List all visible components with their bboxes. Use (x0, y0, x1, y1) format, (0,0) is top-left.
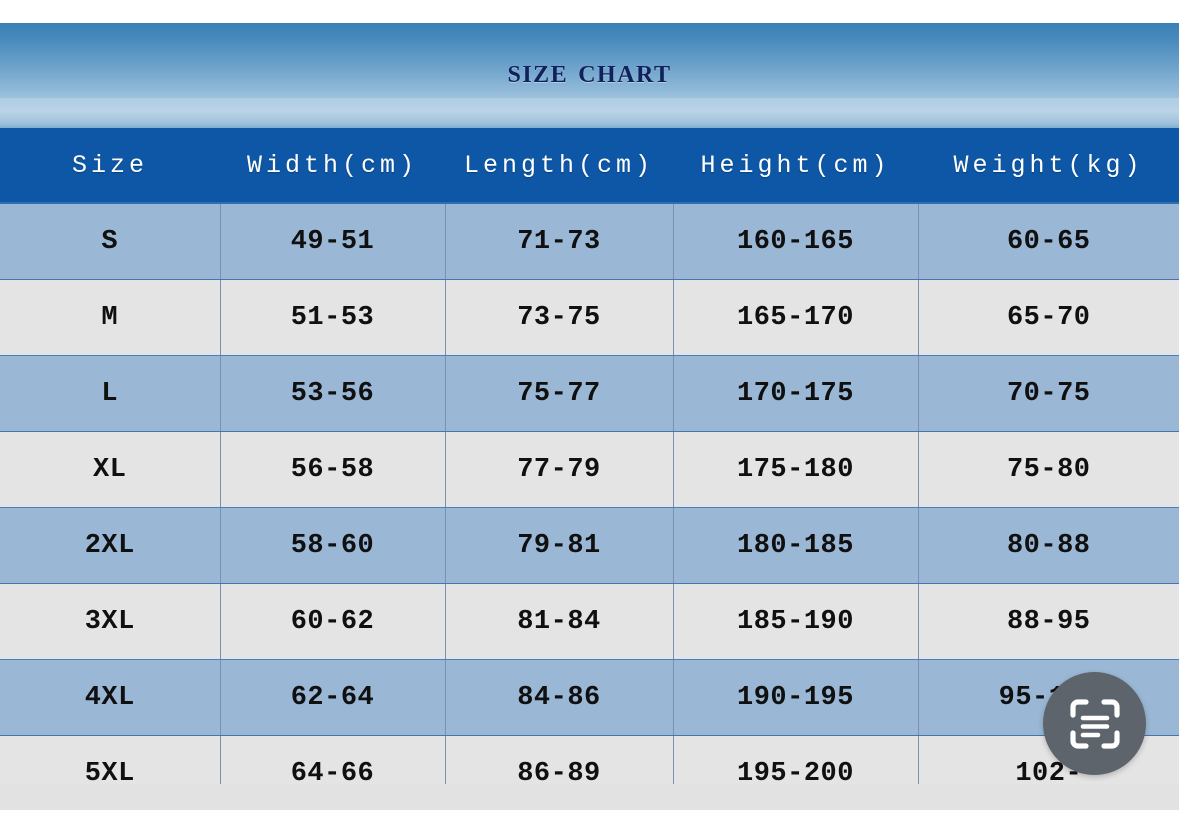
cell-height: 160-165 (673, 203, 918, 280)
cell-width: 62-64 (220, 660, 445, 736)
header-row: Size Width(cm) Length(cm) Height(cm) Wei… (0, 128, 1179, 203)
size-table-container: Size Width(cm) Length(cm) Height(cm) Wei… (0, 128, 1179, 813)
cell-length: 71-73 (445, 203, 673, 280)
size-chart-page: Size Chart Size Width(cm) Length(cm) Hei… (0, 0, 1179, 824)
column-header-size: Size (0, 128, 220, 203)
cell-height: 180-185 (673, 508, 918, 584)
cell-weight: 70-75 (918, 356, 1179, 432)
cell-size: L (0, 356, 220, 432)
cell-length: 75-77 (445, 356, 673, 432)
page-title: Size Chart (0, 53, 1179, 91)
table-row: 4XL 62-64 84-86 190-195 95-102 (0, 660, 1179, 736)
cell-weight: 88-95 (918, 584, 1179, 660)
cell-height: 170-175 (673, 356, 918, 432)
cell-size: XL (0, 432, 220, 508)
cell-length: 81-84 (445, 584, 673, 660)
cell-size: 4XL (0, 660, 220, 736)
cell-length: 73-75 (445, 280, 673, 356)
cell-height: 185-190 (673, 584, 918, 660)
table-body: S 49-51 71-73 160-165 60-65 M 51-53 73-7… (0, 203, 1179, 812)
cell-width: 51-53 (220, 280, 445, 356)
cell-height: 165-170 (673, 280, 918, 356)
table-row: M 51-53 73-75 165-170 65-70 (0, 280, 1179, 356)
cell-width: 56-58 (220, 432, 445, 508)
cell-size: 3XL (0, 584, 220, 660)
table-row: 2XL 58-60 79-81 180-185 80-88 (0, 508, 1179, 584)
cell-height: 175-180 (673, 432, 918, 508)
cell-length: 84-86 (445, 660, 673, 736)
top-white-strip (0, 0, 1179, 23)
cell-width: 60-62 (220, 584, 445, 660)
cell-width: 49-51 (220, 203, 445, 280)
table-row: XL 56-58 77-79 175-180 75-80 (0, 432, 1179, 508)
cell-size: M (0, 280, 220, 356)
scan-text-button[interactable] (1043, 672, 1146, 775)
cell-length: 77-79 (445, 432, 673, 508)
bottom-white-strip (0, 810, 1179, 824)
column-header-width: Width(cm) (220, 128, 445, 203)
cell-weight: 65-70 (918, 280, 1179, 356)
cell-weight: 80-88 (918, 508, 1179, 584)
title-banner: Size Chart (0, 23, 1179, 128)
scan-text-icon (1068, 697, 1122, 751)
column-header-height: Height(cm) (673, 128, 918, 203)
column-header-weight: Weight(kg) (918, 128, 1179, 203)
cell-width: 53-56 (220, 356, 445, 432)
column-header-length: Length(cm) (445, 128, 673, 203)
table-row: L 53-56 75-77 170-175 70-75 (0, 356, 1179, 432)
cell-weight: 75-80 (918, 432, 1179, 508)
size-table: Size Width(cm) Length(cm) Height(cm) Wei… (0, 128, 1179, 813)
table-row: S 49-51 71-73 160-165 60-65 (0, 203, 1179, 280)
cell-size: S (0, 203, 220, 280)
bottom-gray-strip (0, 784, 1179, 810)
table-header: Size Width(cm) Length(cm) Height(cm) Wei… (0, 128, 1179, 203)
cell-weight: 60-65 (918, 203, 1179, 280)
cell-height: 190-195 (673, 660, 918, 736)
cell-size: 2XL (0, 508, 220, 584)
table-row: 3XL 60-62 81-84 185-190 88-95 (0, 584, 1179, 660)
cell-length: 79-81 (445, 508, 673, 584)
cell-width: 58-60 (220, 508, 445, 584)
